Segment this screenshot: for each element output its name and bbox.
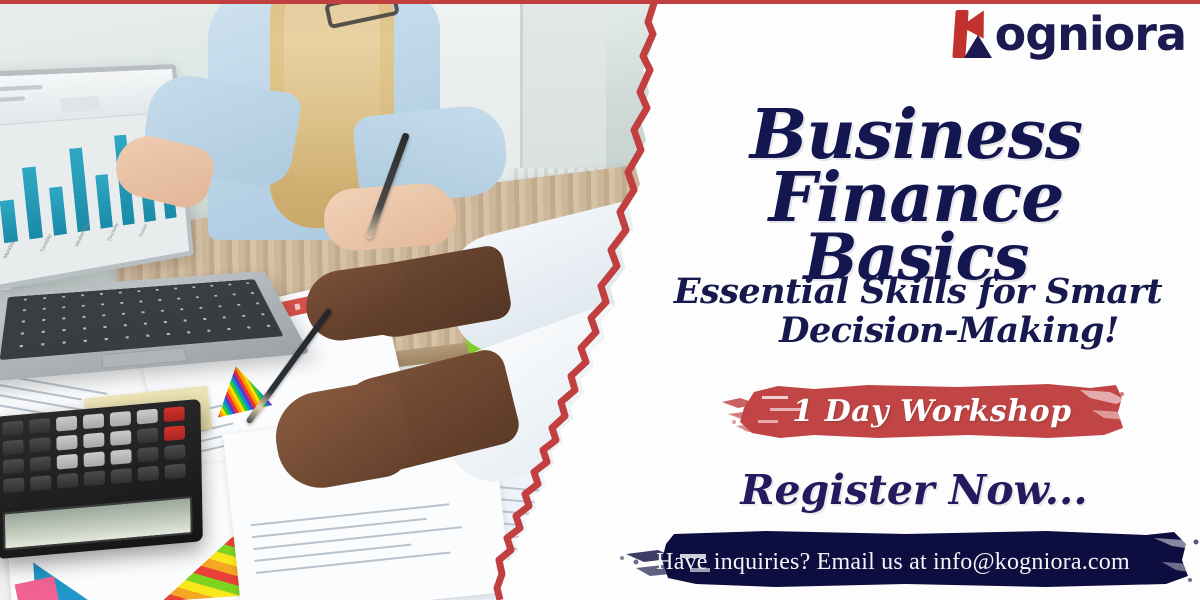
- calculator-key: [57, 454, 78, 470]
- calculator-key: [56, 435, 77, 451]
- pink-sticky-note: [15, 576, 60, 600]
- register-cta[interactable]: Register Now...: [640, 466, 1188, 514]
- logo-wordmark: ogniora: [995, 11, 1186, 57]
- calculator-key: [137, 447, 158, 463]
- calculator-key: [2, 420, 23, 436]
- subtitle-line-2: Decision-Making!: [650, 311, 1186, 350]
- workshop-badge: 1 Day Workshop: [718, 378, 1128, 444]
- calculator-key: [3, 478, 24, 494]
- contact-bar: Have inquiries? Email us at info@kognior…: [606, 528, 1200, 592]
- calculator-key: [30, 456, 51, 472]
- title-line-1: Business Finance: [750, 95, 1082, 238]
- keyboard-keys: [0, 279, 284, 360]
- chart-bar: [49, 186, 67, 235]
- chart-bar: [69, 148, 90, 233]
- calculator: [0, 399, 203, 559]
- calculator-key: [137, 428, 158, 444]
- rainbow-fan-chart: [208, 360, 273, 417]
- logo-k-icon: [952, 8, 992, 60]
- calculator-key: [164, 444, 185, 460]
- chart-bar: [0, 199, 18, 243]
- calculator-key: [29, 418, 50, 434]
- calculator-key: [57, 473, 78, 489]
- calculator-key: [111, 468, 132, 484]
- page-subtitle: Essential Skills for Smart Decision-Maki…: [650, 272, 1186, 350]
- calculator-key: [56, 416, 77, 432]
- event-banner: MondayTuesdayWednesdayThursdayFriday: [0, 0, 1200, 600]
- calculator-key: [3, 439, 24, 455]
- calculator-display: [3, 496, 193, 551]
- badge-label: 1 Day Workshop: [718, 378, 1128, 444]
- content-panel: ogniora Business Finance Basics Essentia…: [640, 0, 1200, 600]
- calculator-key: [3, 458, 24, 474]
- chart-bar: [95, 174, 113, 229]
- kogniora-logo[interactable]: ogniora: [952, 8, 1186, 60]
- calculator-key: [110, 430, 131, 446]
- chart-axis-label: Friday: [139, 223, 149, 238]
- person-man: [340, 212, 660, 542]
- calculator-key: [165, 463, 186, 479]
- page-title: Business Finance Basics: [640, 104, 1192, 288]
- calculator-key: [84, 470, 105, 486]
- cta-label: Register Now...: [740, 466, 1087, 514]
- calculator-key: [83, 432, 104, 448]
- contact-text: Have inquiries? Email us at info@kognior…: [606, 528, 1200, 592]
- calculator-keys: [2, 405, 195, 502]
- calculator-key: [110, 449, 131, 465]
- calculator-key: [83, 413, 104, 429]
- top-red-rule: [0, 0, 1200, 4]
- calculator-key: [164, 425, 185, 441]
- calculator-key: [138, 466, 159, 482]
- subtitle-line-1: Essential Skills for Smart: [674, 271, 1162, 312]
- chart-bar: [22, 167, 43, 240]
- calculator-key: [110, 411, 131, 427]
- calculator-key: [137, 409, 158, 425]
- calculator-key: [30, 475, 51, 491]
- calculator-key: [164, 406, 185, 422]
- calculator-key: [84, 451, 105, 467]
- hero-photo: MondayTuesdayWednesdayThursdayFriday: [0, 0, 660, 600]
- calculator-key: [29, 437, 50, 453]
